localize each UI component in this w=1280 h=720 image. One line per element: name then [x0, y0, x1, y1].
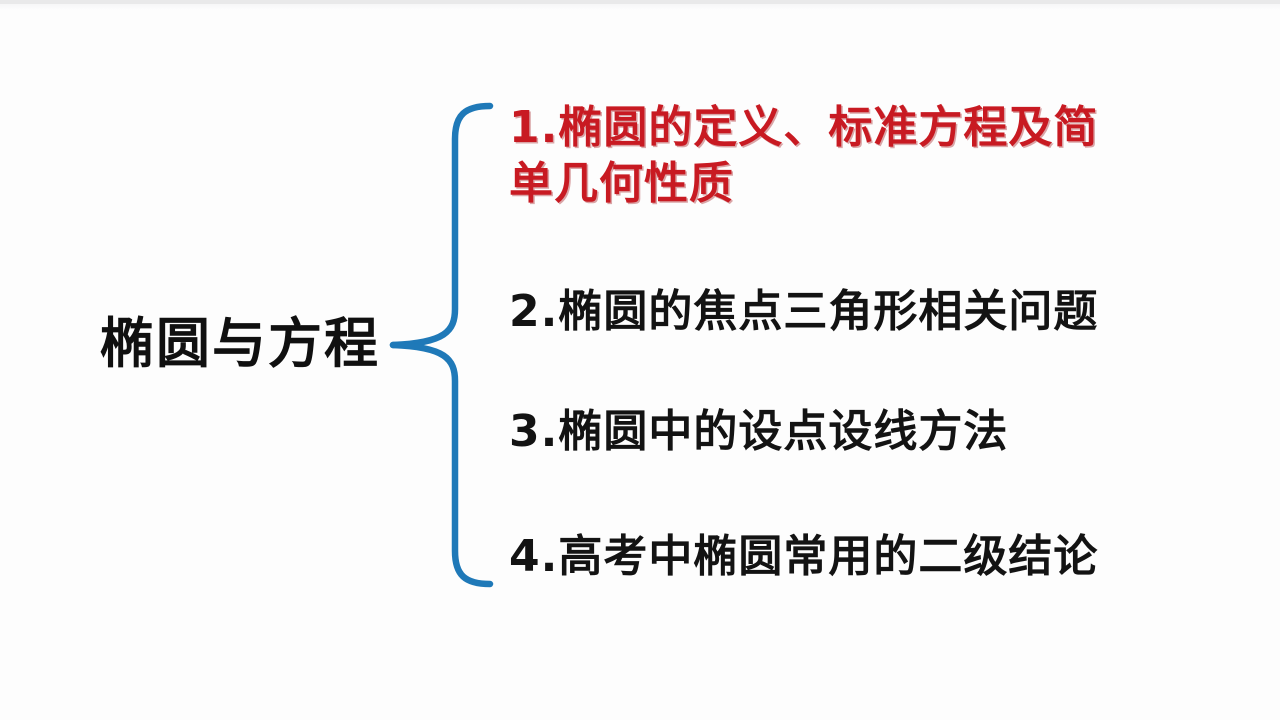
branch-list: 1.椭圆的定义、标准方程及简 单几何性质 2.椭圆的焦点三角形相关问题 3.椭圆…	[509, 92, 1209, 612]
curly-brace-icon	[393, 106, 490, 584]
top-edge-band-fade	[0, 4, 1280, 10]
branch-item-2[interactable]: 2.椭圆的焦点三角形相关问题	[509, 284, 1189, 340]
curly-brace-connector	[385, 95, 500, 595]
branch-item-3[interactable]: 3.椭圆中的设点设线方法	[509, 404, 1189, 460]
root-topic-label: 椭圆与方程	[100, 306, 390, 382]
branch-item-4[interactable]: 4.高考中椭圆常用的二级结论	[509, 529, 1189, 585]
slide-canvas: 椭圆与方程 1.椭圆的定义、标准方程及简 单几何性质 2.椭圆的焦点三角形相关问…	[0, 0, 1280, 720]
branch-item-1[interactable]: 1.椭圆的定义、标准方程及简 单几何性质	[509, 100, 1159, 212]
